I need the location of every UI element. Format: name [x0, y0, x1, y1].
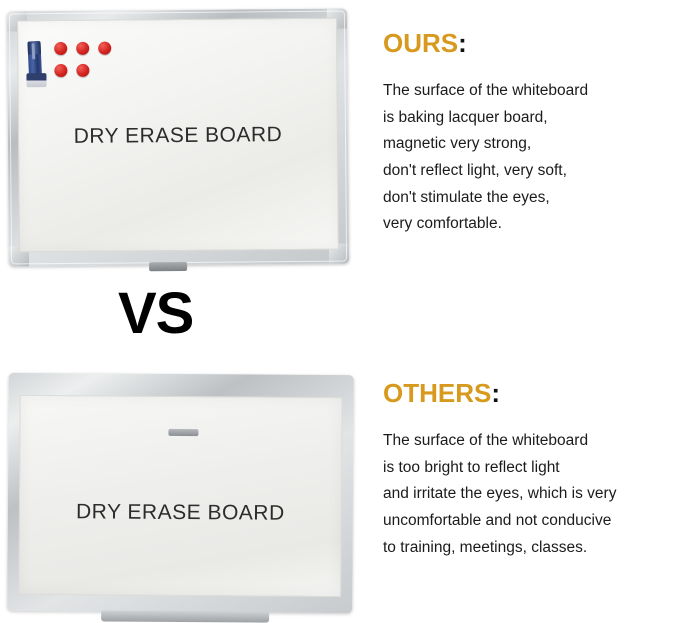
frame-corner-top-left [9, 373, 354, 375]
ours-body-line: very comfortable. [383, 211, 673, 238]
others-text-block: OTHERS: The surface of the whiteboard is… [383, 380, 673, 561]
eraser-icon [26, 73, 46, 87]
magnet-icon [76, 42, 89, 55]
magnet-icon [54, 42, 67, 55]
whiteboard-frame-top: DRY ERASE BOARD [7, 9, 349, 267]
marker-clip [32, 43, 36, 59]
whiteboard-surface-bottom: DRY ERASE BOARD [18, 395, 342, 597]
ours-body-line: don't reflect light, very soft, [383, 158, 673, 185]
ours-body-line: The surface of the whiteboard [383, 78, 673, 105]
pen-tray-top [149, 262, 187, 271]
magnet-icon [98, 42, 111, 55]
others-body-text: The surface of the whiteboard is too bri… [383, 428, 673, 561]
ours-body-line: magnetic very strong, [383, 131, 673, 158]
magnet-icon [76, 64, 89, 77]
board-label-top: DRY ERASE BOARD [19, 123, 337, 150]
board-label-bottom: DRY ERASE BOARD [20, 500, 341, 526]
section-divider [0, 352, 679, 353]
others-heading-colon: : [491, 378, 500, 408]
ours-body-line: is baking lacquer board, [383, 105, 673, 132]
frame-highlight [9, 373, 354, 375]
ours-heading: OURS: [383, 30, 673, 56]
ours-heading-colon: : [458, 28, 467, 58]
ours-text-block: OURS: The surface of the whiteboard is b… [383, 30, 673, 238]
frame-corner-bottom-left [9, 373, 354, 375]
others-whiteboard-panel: DRY ERASE BOARD [0, 366, 360, 618]
vs-label: VS [118, 280, 193, 347]
others-heading-word: OTHERS [383, 378, 491, 408]
others-heading: OTHERS: [383, 380, 673, 406]
others-body-line: to training, meetings, classes. [383, 535, 673, 562]
ours-body-line: don't stimulate the eyes, [383, 185, 673, 212]
others-body-line: uncomfortable and not conducive [383, 508, 673, 535]
others-body-line: is too bright to reflect light [383, 455, 673, 482]
comparison-infographic: DRY ERASE BOARD VS DRY ERASE BOARD [0, 0, 679, 621]
ours-heading-word: OURS [383, 28, 458, 58]
whiteboard-bottom: DRY ERASE BOARD [0, 366, 360, 618]
whiteboard-frame-bottom: DRY ERASE BOARD [7, 373, 354, 613]
others-body-line: and irritate the eyes, which is very [383, 481, 673, 508]
pen-tray-small [168, 429, 198, 436]
ours-whiteboard-panel: DRY ERASE BOARD [0, 4, 355, 276]
whiteboard-surface-top: DRY ERASE BOARD [17, 18, 339, 253]
whiteboard-top: DRY ERASE BOARD [0, 4, 355, 276]
frame-corner-bottom-right [9, 373, 354, 375]
magnet-icon [54, 64, 67, 77]
ours-body-text: The surface of the whiteboard is baking … [383, 78, 673, 238]
others-body-line: The surface of the whiteboard [383, 428, 673, 455]
frame-corner-top-right [9, 373, 354, 375]
